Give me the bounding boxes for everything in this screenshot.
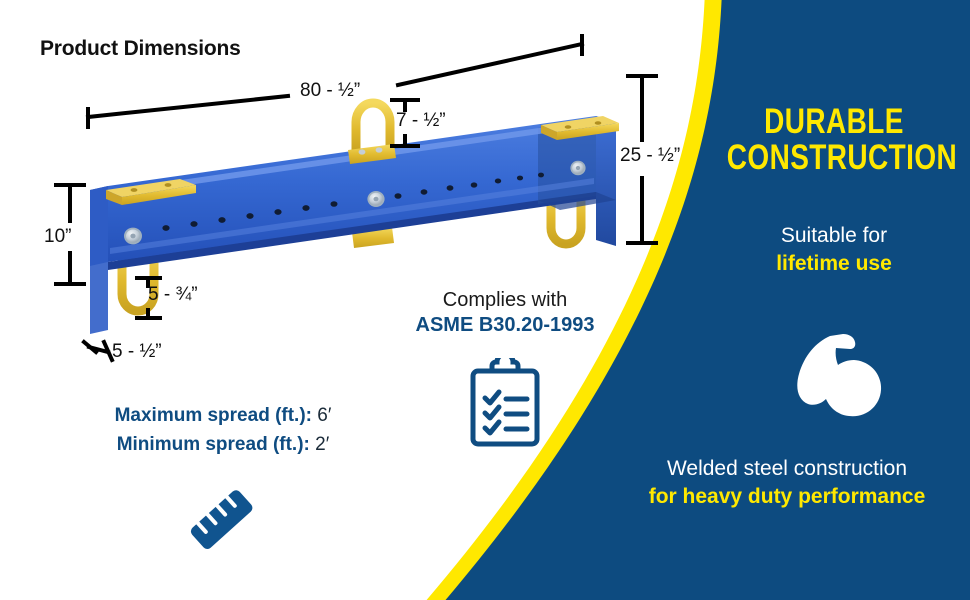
page-title: Product Dimensions xyxy=(40,37,241,61)
beam-right-end-flange xyxy=(596,116,616,246)
left-plate-screw-1 xyxy=(131,188,138,192)
compliance-line-1: Complies with xyxy=(400,288,610,312)
max-spread-label: Maximum spread (ft.): xyxy=(115,405,312,426)
right-mount-plate-top xyxy=(541,116,619,132)
pin-bolt-right xyxy=(570,161,585,175)
compliance-block: Complies with ASME B30.20-1993 xyxy=(400,288,610,339)
dim-length-leader-right xyxy=(398,44,582,85)
center-bail-bolt-2 xyxy=(376,147,383,152)
dim-label-flange-width: 5 - ½” xyxy=(112,341,162,363)
left-plate-screw-2 xyxy=(165,183,172,187)
clipboard-checklist-icon xyxy=(466,358,544,455)
min-spread-value: 2′ xyxy=(315,434,329,455)
pin-bolt-center xyxy=(367,191,384,207)
left-mount-plate-top xyxy=(106,179,196,197)
left-mount-plate-face xyxy=(106,190,122,205)
spread-specs-block: Maximum spread (ft.): 6′ Minimum spread … xyxy=(78,402,368,459)
center-bottom-pad xyxy=(352,227,394,248)
dim-label-beam-height: 10” xyxy=(44,226,71,248)
feature-heading-line-2: CONSTRUCTION xyxy=(727,140,941,176)
flexed-bicep-icon xyxy=(786,330,898,443)
beam-right-inner-floor xyxy=(538,192,616,210)
left-mount-plate-front xyxy=(122,185,196,205)
min-spread-row: Minimum spread (ft.): 2′ xyxy=(78,431,368,460)
dim-flange-line xyxy=(89,347,108,352)
beam-web-face xyxy=(108,116,596,262)
dim-label-overall-height: 25 - ½” xyxy=(620,145,680,167)
beam-top-plane xyxy=(108,122,612,203)
dim-flange-tick-right xyxy=(104,342,112,360)
adjustment-hole-row xyxy=(162,173,544,231)
pin-bolt-left xyxy=(124,228,142,245)
feature-subtext-highlight: lifetime use xyxy=(700,250,968,278)
max-spread-value: 6′ xyxy=(317,405,331,426)
dim-label-hook-drop: 5 - ¾” xyxy=(148,284,198,306)
right-plate-screw-2 xyxy=(595,121,602,125)
right-mount-plate-side xyxy=(541,125,557,140)
max-spread-row: Maximum spread (ft.): 6′ xyxy=(78,402,368,431)
compliance-standard: ASME B30.20-1993 xyxy=(400,312,610,339)
right-u-bolt xyxy=(551,186,581,244)
feature-bottom-text: Welded steel construction for heavy duty… xyxy=(614,455,960,512)
dim-label-bail-height: 7 - ½” xyxy=(396,110,446,132)
beam-top-highlight xyxy=(112,120,594,196)
beam-right-inner-web xyxy=(538,120,596,204)
beam-bottom-flange-edge xyxy=(108,191,596,270)
feature-subtext-plain: Suitable for xyxy=(781,224,887,247)
center-bail-base-plate xyxy=(348,144,396,164)
right-mount-plate-front xyxy=(557,123,619,140)
feature-bottom-highlight: for heavy duty performance xyxy=(614,483,960,511)
feature-subtext: Suitable for lifetime use xyxy=(700,222,968,277)
min-spread-label: Minimum spread (ft.): xyxy=(117,434,310,455)
feature-heading-line-1: DURABLE xyxy=(727,104,941,140)
beam-top-back-flange xyxy=(116,128,601,212)
dim-flange-tick-left xyxy=(84,342,96,352)
beam-left-end-cap xyxy=(90,186,108,266)
feature-heading: DURABLE CONSTRUCTION xyxy=(727,104,941,175)
beam-left-end-inner xyxy=(90,186,108,334)
center-lifting-bail xyxy=(356,103,390,152)
ruler-icon xyxy=(186,485,258,560)
right-plate-screw-1 xyxy=(565,125,572,129)
center-bail-bolt-1 xyxy=(359,149,366,154)
beam-bottom-flange xyxy=(108,184,612,264)
beam-lower-highlight xyxy=(110,178,594,254)
dim-length-leader-left xyxy=(88,96,288,117)
dim-label-length: 80 - ½” xyxy=(300,80,360,102)
feature-bottom-plain: Welded steel construction xyxy=(667,457,907,480)
infographic-canvas: Product Dimensions 80 - ½” 7 - ½” 25 - ½… xyxy=(0,0,970,600)
